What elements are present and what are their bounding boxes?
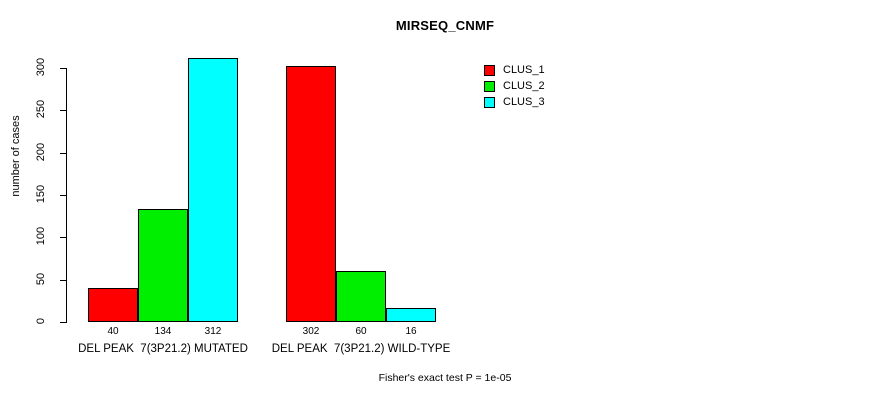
legend-color-swatch: [484, 81, 495, 92]
legend-item: CLUS_2: [484, 78, 545, 94]
legend: CLUS_1CLUS_2CLUS_3: [484, 62, 545, 110]
bar: [138, 209, 188, 322]
bar-value-label: 302: [286, 326, 336, 337]
bar-chart-figure: MIRSEQ_CNMF number of cases 050100150200…: [0, 0, 890, 400]
bar-value-label: 312: [188, 326, 238, 337]
bar: [386, 308, 436, 322]
legend-item: CLUS_3: [484, 94, 545, 110]
legend-color-swatch: [484, 97, 495, 108]
bar: [88, 288, 138, 322]
plot-area: 40134312DEL PEAK 7(3P21.2) MUTATED302601…: [0, 0, 890, 400]
bar-value-label: 134: [138, 326, 188, 337]
legend-color-swatch: [484, 65, 495, 76]
bar: [188, 58, 238, 322]
legend-label: CLUS_3: [503, 96, 545, 108]
bar: [286, 66, 336, 322]
bar-value-label: 16: [386, 326, 436, 337]
legend-item: CLUS_1: [484, 62, 545, 78]
bar-value-label: 40: [88, 326, 138, 337]
legend-label: CLUS_2: [503, 80, 545, 92]
statistical-test-annotation: Fisher's exact test P = 1e-05: [0, 372, 890, 384]
legend-label: CLUS_1: [503, 64, 545, 76]
bar: [336, 271, 386, 322]
bar-value-label: 60: [336, 326, 386, 337]
x-axis-group-caption: DEL PEAK 7(3P21.2) MUTATED: [62, 343, 264, 355]
x-axis-group-caption: DEL PEAK 7(3P21.2) WILD-TYPE: [260, 343, 462, 355]
